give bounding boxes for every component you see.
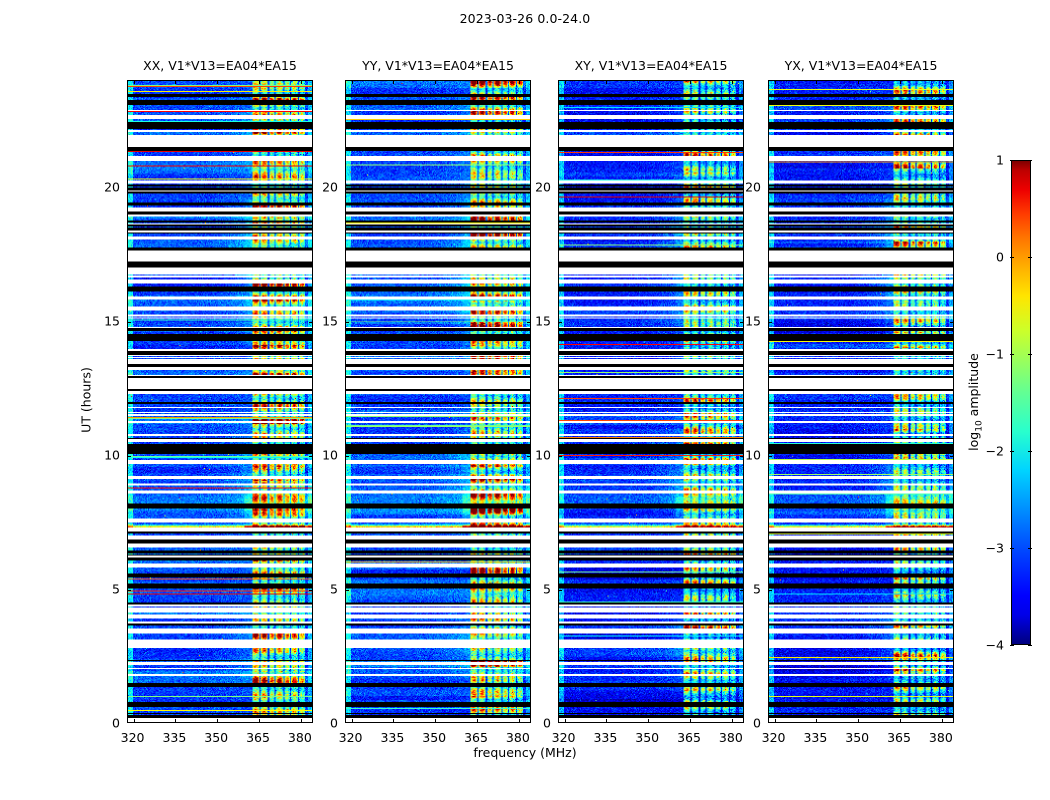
x-tick-mark (175, 719, 176, 723)
y-tick-mark (345, 590, 349, 591)
x-tick-label: 365 (677, 730, 701, 745)
waterfall-image-yy (346, 81, 530, 722)
axes-xy[interactable] (558, 80, 744, 723)
colorbar-tick-label: 0 (996, 250, 1004, 265)
y-tick-mark-right (950, 188, 954, 189)
colorbar-tick-label: −4 (986, 638, 1004, 653)
x-tick-mark-top (352, 80, 353, 84)
x-tick-label: 335 (162, 730, 186, 745)
y-tick-label: 5 (753, 582, 761, 597)
y-tick-label: 15 (535, 314, 551, 329)
colorbar-tick-mark-right (1028, 160, 1032, 161)
x-tick-mark (393, 719, 394, 723)
y-tick-label: 10 (745, 448, 761, 463)
y-tick-mark-right (309, 188, 313, 189)
y-tick-label: 20 (745, 180, 761, 195)
colorbar-tick-mark-right (1028, 451, 1032, 452)
y-tick-label: 15 (322, 314, 338, 329)
y-tick-label: 20 (535, 180, 551, 195)
x-tick-label: 350 (635, 730, 659, 745)
panel-title-yx: YX, V1*V13=EA04*EA15 (785, 58, 938, 73)
y-tick-mark (558, 456, 562, 457)
x-tick-label: 380 (929, 730, 953, 745)
x-tick-mark (565, 719, 566, 723)
x-tick-mark-top (217, 80, 218, 84)
x-tick-mark-top (519, 80, 520, 84)
axes-yy[interactable] (345, 80, 531, 723)
x-tick-mark (900, 719, 901, 723)
waterfall-image-yx (769, 81, 953, 722)
x-tick-mark-top (816, 80, 817, 84)
y-tick-mark-right (950, 322, 954, 323)
x-tick-mark-top (690, 80, 691, 84)
x-tick-mark-top (134, 80, 135, 84)
y-tick-mark (768, 456, 772, 457)
x-tick-mark-top (900, 80, 901, 84)
y-tick-mark (127, 590, 131, 591)
y-tick-mark (345, 188, 349, 189)
y-tick-label: 0 (330, 716, 338, 731)
x-tick-label: 320 (552, 730, 576, 745)
colorbar-tick-label: −2 (986, 444, 1004, 459)
x-tick-label: 350 (204, 730, 228, 745)
y-tick-mark-right (309, 322, 313, 323)
colorbar-tick-label: −3 (986, 541, 1004, 556)
y-tick-mark-right (950, 590, 954, 591)
x-tick-label: 380 (506, 730, 530, 745)
x-tick-mark (477, 719, 478, 723)
y-tick-mark (558, 322, 562, 323)
x-tick-label: 350 (422, 730, 446, 745)
panel-yx: YX, V1*V13=EA04*EA15 3203353503653800510… (768, 80, 954, 723)
y-tick-mark-right (740, 456, 744, 457)
figure-canvas: 2023-03-26 0.0-24.0 XX, V1*V13=EA04*EA15… (0, 0, 1050, 800)
panel-xy: XY, V1*V13=EA04*EA15 3203353503653800510… (558, 80, 744, 723)
y-tick-mark (768, 322, 772, 323)
axes-yx[interactable] (768, 80, 954, 723)
x-tick-mark (519, 719, 520, 723)
panel-yy: YY, V1*V13=EA04*EA15 3203353503653800510… (345, 80, 531, 723)
panel-title-xy: XY, V1*V13=EA04*EA15 (575, 58, 728, 73)
y-tick-mark (127, 322, 131, 323)
waterfall-image-xy (559, 81, 743, 722)
y-tick-mark (127, 188, 131, 189)
x-tick-label: 335 (803, 730, 827, 745)
colorbar-label: log10 amplitude (966, 353, 985, 451)
x-tick-mark (648, 719, 649, 723)
x-tick-mark (606, 719, 607, 723)
colorbar-tick-label: −1 (986, 347, 1004, 362)
y-tick-mark (558, 188, 562, 189)
x-tick-mark-top (775, 80, 776, 84)
y-tick-label: 5 (112, 582, 120, 597)
colorbar-tick-mark-right (1028, 257, 1032, 258)
y-tick-label: 5 (543, 582, 551, 597)
x-tick-label: 320 (339, 730, 363, 745)
colorbar-tick-mark (1010, 548, 1014, 549)
colorbar-tick-mark (1010, 257, 1014, 258)
colorbar-label-sub: 10 (974, 420, 984, 431)
x-tick-mark-top (648, 80, 649, 84)
y-tick-label: 10 (535, 448, 551, 463)
x-tick-mark-top (858, 80, 859, 84)
x-tick-mark (858, 719, 859, 723)
x-tick-mark (301, 719, 302, 723)
y-tick-mark (345, 322, 349, 323)
colorbar-tick-mark (1010, 645, 1014, 646)
x-tick-label: 335 (593, 730, 617, 745)
x-tick-mark-top (175, 80, 176, 84)
x-tick-mark-top (393, 80, 394, 84)
y-tick-mark (768, 188, 772, 189)
x-axis-label: frequency (MHz) (0, 745, 1050, 760)
figure-suptitle: 2023-03-26 0.0-24.0 (0, 11, 1050, 26)
y-tick-mark-right (527, 188, 531, 189)
x-tick-mark-top (732, 80, 733, 84)
x-tick-mark-top (942, 80, 943, 84)
y-tick-mark-right (527, 322, 531, 323)
panel-title-xx: XX, V1*V13=EA04*EA15 (143, 58, 297, 73)
y-tick-mark-right (740, 590, 744, 591)
y-tick-mark-right (527, 590, 531, 591)
y-tick-mark-right (309, 456, 313, 457)
x-tick-label: 365 (246, 730, 270, 745)
colorbar-tick-mark-right (1028, 354, 1032, 355)
x-tick-mark (942, 719, 943, 723)
y-tick-mark-right (740, 188, 744, 189)
x-tick-mark (352, 719, 353, 723)
y-tick-label: 10 (322, 448, 338, 463)
x-tick-label: 365 (464, 730, 488, 745)
y-tick-label: 15 (104, 314, 120, 329)
y-tick-mark (558, 590, 562, 591)
colorbar-label-tail: amplitude (966, 353, 981, 420)
x-tick-mark (134, 719, 135, 723)
x-tick-mark (816, 719, 817, 723)
y-tick-label: 10 (104, 448, 120, 463)
y-tick-mark-right (309, 590, 313, 591)
y-tick-label: 20 (322, 180, 338, 195)
x-tick-label: 335 (380, 730, 404, 745)
colorbar-tick-mark-right (1028, 548, 1032, 549)
colorbar-tick-mark (1010, 354, 1014, 355)
x-tick-label: 380 (719, 730, 743, 745)
y-tick-label: 5 (330, 582, 338, 597)
colorbar-tick-label: 1 (996, 153, 1004, 168)
x-tick-mark-top (606, 80, 607, 84)
x-tick-mark (435, 719, 436, 723)
y-tick-label: 0 (543, 716, 551, 731)
x-tick-mark (775, 719, 776, 723)
y-tick-label: 0 (753, 716, 761, 731)
x-tick-mark-top (565, 80, 566, 84)
waterfall-image-xx (128, 81, 312, 722)
y-tick-label: 20 (104, 180, 120, 195)
panel-title-yy: YY, V1*V13=EA04*EA15 (362, 58, 514, 73)
y-tick-label: 15 (745, 314, 761, 329)
x-tick-label: 320 (121, 730, 145, 745)
colorbar-tick-mark (1010, 160, 1014, 161)
x-tick-label: 350 (845, 730, 869, 745)
y-tick-mark (345, 456, 349, 457)
x-tick-mark-top (301, 80, 302, 84)
x-tick-mark (732, 719, 733, 723)
colorbar[interactable]: 10−1−2−3−4 (1011, 160, 1031, 645)
y-tick-mark (768, 590, 772, 591)
x-tick-mark-top (477, 80, 478, 84)
y-tick-label: 0 (112, 716, 120, 731)
x-tick-label: 320 (762, 730, 786, 745)
y-tick-mark-right (527, 456, 531, 457)
panel-xx: XX, V1*V13=EA04*EA15 3203353503653800510… (127, 80, 313, 723)
x-tick-label: 365 (887, 730, 911, 745)
colorbar-tick-mark (1010, 451, 1014, 452)
colorbar-tick-mark-right (1028, 645, 1032, 646)
y-axis-label: UT (hours) (79, 367, 94, 433)
x-tick-mark (690, 719, 691, 723)
y-tick-mark-right (950, 456, 954, 457)
x-tick-mark (259, 719, 260, 723)
colorbar-label-log: log (966, 432, 981, 451)
x-tick-mark-top (259, 80, 260, 84)
y-tick-mark-right (740, 322, 744, 323)
colorbar-gradient (1011, 160, 1031, 645)
x-tick-mark (217, 719, 218, 723)
axes-xx[interactable] (127, 80, 313, 723)
x-tick-label: 380 (288, 730, 312, 745)
x-tick-mark-top (435, 80, 436, 84)
y-tick-mark (127, 456, 131, 457)
